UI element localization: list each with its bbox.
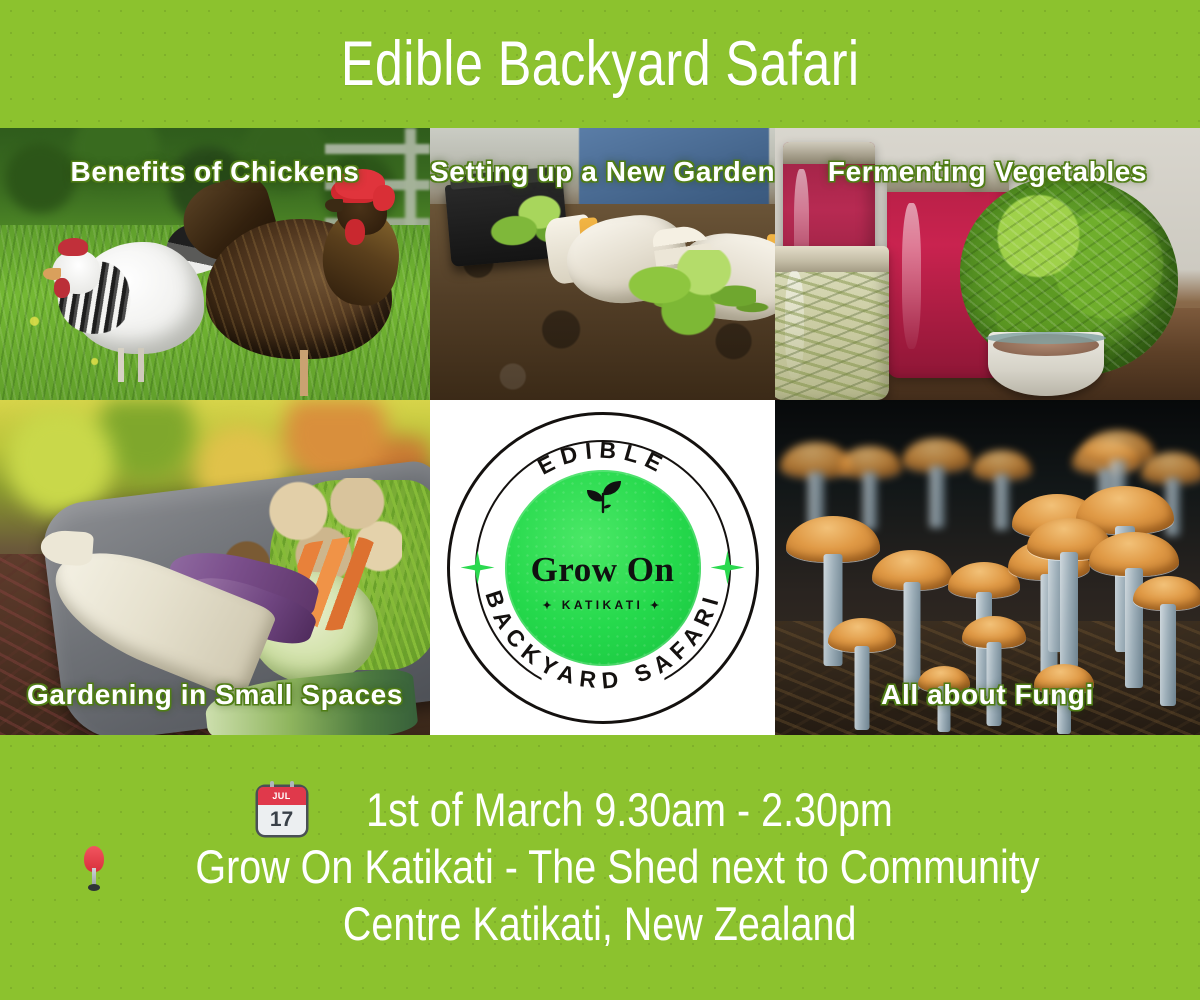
footer-band: JUL 17 1st of March 9.30am - 2.30pm Grow… (0, 735, 1200, 1000)
tile-fungi[interactable]: All about Fungi (775, 400, 1200, 735)
event-location-line-1: Grow On Katikati - The Shed next to Comm… (81, 842, 1120, 893)
tile-label-fungi: All about Fungi (775, 679, 1200, 711)
logo-brand-name: Grow On (447, 552, 759, 587)
calendar-icon: JUL 17 (258, 787, 306, 835)
salt-bowl (988, 332, 1104, 396)
tile-logo[interactable]: EDIBLE BACKYARD SAFARI Grow On (430, 400, 775, 735)
logo-locality-text: KATIKATI (562, 598, 643, 612)
event-location-text-1: Grow On Katikati - The Shed next to Comm… (195, 842, 1039, 893)
tile-chickens[interactable]: Benefits of Chickens (0, 128, 430, 400)
mushroom (827, 618, 897, 730)
header-band: Edible Backyard Safari (0, 0, 1200, 128)
tile-new-garden[interactable]: Setting up a New Garden (430, 128, 775, 400)
ferment-jar-kraut (775, 246, 889, 400)
brown-hen (200, 167, 405, 382)
event-date-text: 1st of March 9.30am - 2.30pm (366, 785, 893, 836)
tile-small-spaces[interactable]: Gardening in Small Spaces (0, 400, 430, 735)
logo-arc-top: EDIBLE (533, 436, 672, 479)
tile-fermenting[interactable]: Fermenting Vegetables (775, 128, 1200, 400)
sprout-icon (581, 478, 625, 514)
event-date-line: JUL 17 1st of March 9.30am - 2.30pm (258, 785, 943, 836)
planted-seedling (626, 250, 756, 342)
image-grid: Benefits of Chickens Setting up a New Ga… (0, 128, 1200, 735)
tile-label-small-spaces: Gardening in Small Spaces (0, 679, 430, 711)
map-pin-icon (81, 844, 107, 892)
calendar-month: JUL (258, 787, 306, 805)
mushroom-bg (901, 438, 973, 530)
tile-label-chickens: Benefits of Chickens (0, 156, 430, 188)
page-title: Edible Backyard Safari (341, 33, 860, 96)
poster: Edible Backyard Safari Benefit (0, 0, 1200, 1000)
event-location-line-2: Centre Katikati, New Zealand (294, 899, 905, 950)
grow-on-logo: EDIBLE BACKYARD SAFARI Grow On (447, 412, 759, 724)
tile-label-fermenting: Fermenting Vegetables (775, 156, 1200, 188)
event-location-text-2: Centre Katikati, New Zealand (343, 899, 857, 950)
calendar-day: 17 (258, 805, 306, 835)
logo-locality: ✦ KATIKATI ✦ (447, 598, 759, 612)
tile-label-new-garden: Setting up a New Garden (430, 156, 775, 188)
